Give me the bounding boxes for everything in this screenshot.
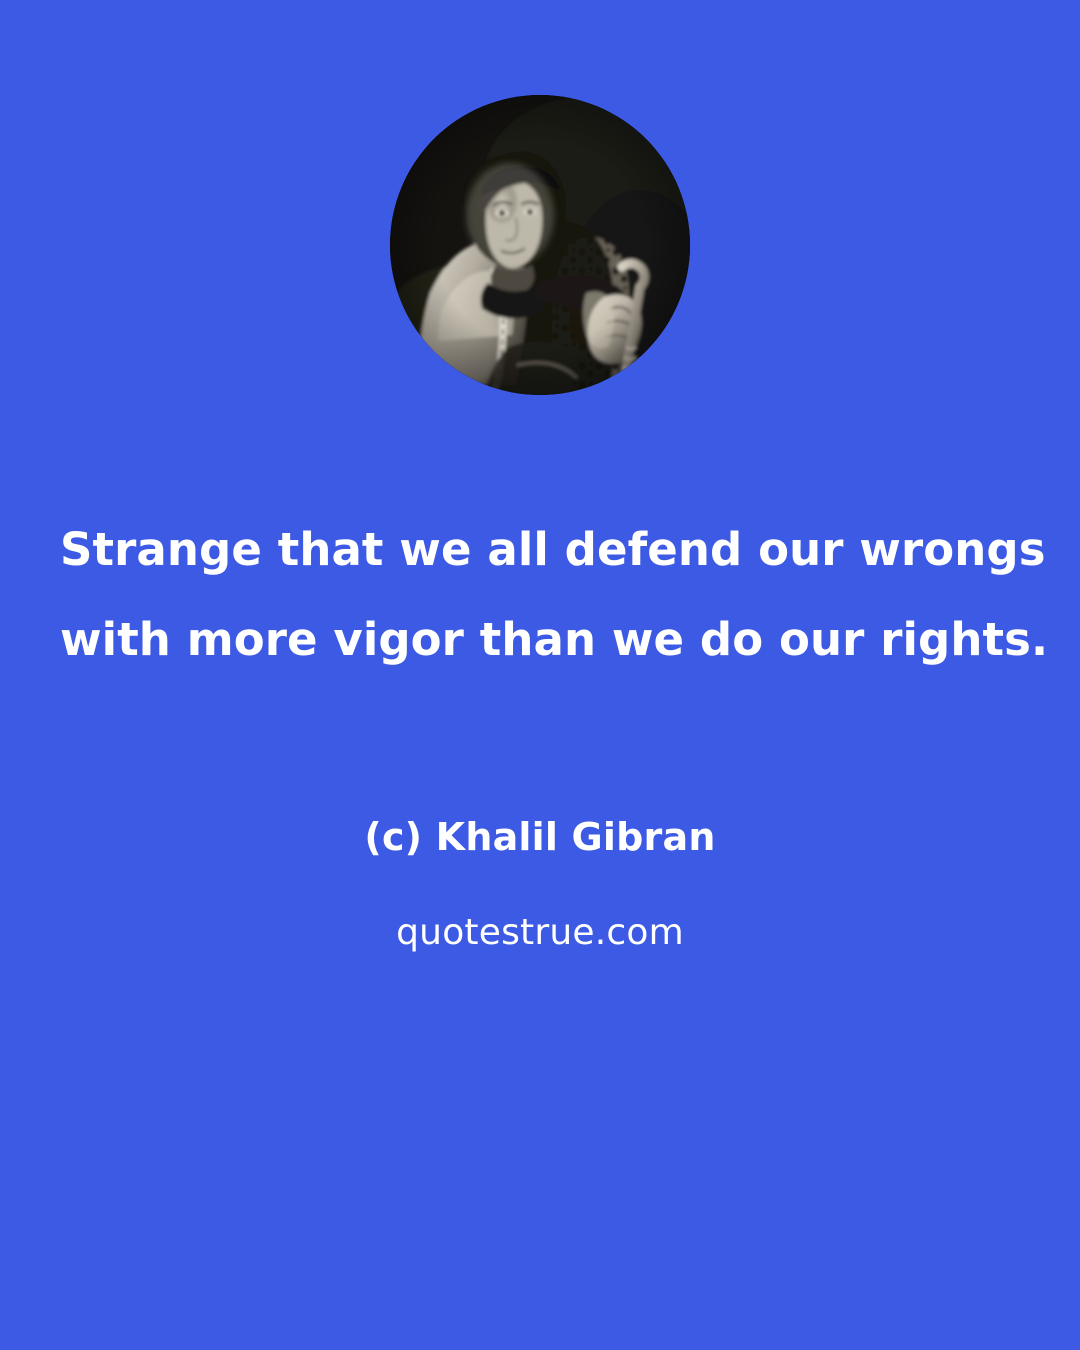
quote-line-2: with more vigor than we do our rights. — [60, 595, 1020, 685]
quote-card: Strange that we all defend our wrongs wi… — [0, 0, 1080, 1350]
author-portrait-avatar — [390, 95, 690, 395]
quote-line-1: Strange that we all defend our wrongs — [60, 505, 1020, 595]
quote-text: Strange that we all defend our wrongs wi… — [60, 505, 1020, 685]
site-watermark: quotestrue.com — [60, 905, 1020, 961]
quote-attribution: (c) Khalil Gibran — [60, 808, 1020, 866]
portrait-photo-icon — [390, 95, 690, 395]
